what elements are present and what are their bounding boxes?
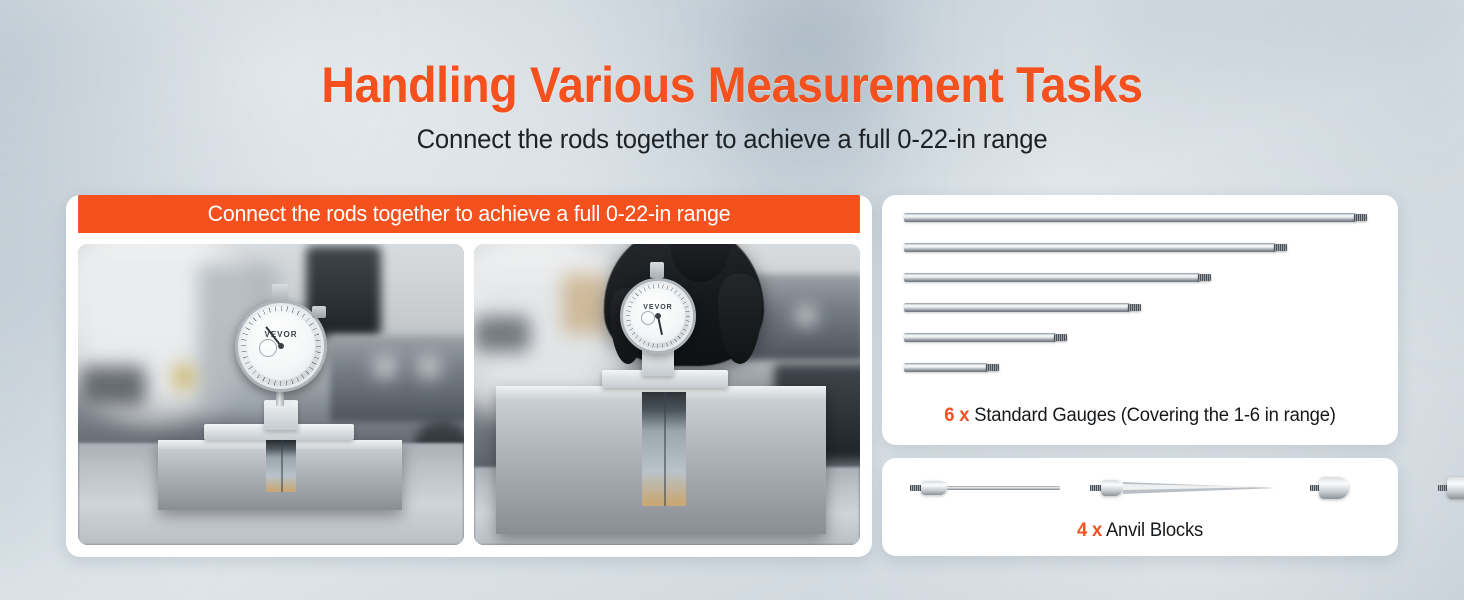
anvil-blocks-card: 4 x Anvil Blocks xyxy=(882,458,1398,556)
page-title: Handling Various Measurement Tasks xyxy=(51,58,1413,112)
anvil-shank xyxy=(947,486,1060,490)
slot-center-line xyxy=(664,392,666,506)
anvil-illustration-area xyxy=(882,458,1398,514)
anvil-head xyxy=(1319,477,1349,499)
photo-card-banner: Connect the rods together to achieve a f… xyxy=(78,195,860,233)
gauge-stem xyxy=(276,390,284,406)
anvil-blocks-caption: 4 x Anvil Blocks xyxy=(890,520,1391,542)
heading-block: Handling Various Measurement Tasks Conne… xyxy=(0,58,1464,155)
product-feature-banner: Handling Various Measurement Tasks Conne… xyxy=(0,0,1464,600)
rod-threaded-tip xyxy=(1128,304,1141,311)
dial-brand-label: VEVOR xyxy=(631,304,685,311)
photo-card: Connect the rods together to achieve a f… xyxy=(66,195,872,557)
photo-gloved-hand-measuring-block: VEVOR xyxy=(474,244,860,545)
rod-body xyxy=(904,333,1056,342)
dial-brand-label: VEVOR xyxy=(247,330,315,339)
vise-bolt xyxy=(374,356,396,378)
standard-gauges-label: Standard Gauges (Covering the 1-6 in ran… xyxy=(974,405,1336,426)
anvil-taper-highlight xyxy=(1123,484,1273,490)
dial-top-cap xyxy=(650,262,664,278)
vise-bolt xyxy=(796,306,816,326)
standard-gauges-caption: 6 x Standard Gauges (Covering the 1-6 in… xyxy=(890,405,1391,427)
backdrop-blob xyxy=(474,316,530,352)
rod-body xyxy=(904,243,1276,252)
rod-body xyxy=(904,213,1356,222)
dial-hub xyxy=(278,343,284,349)
rod-threaded-tip xyxy=(1198,274,1211,281)
anvil-blocks-label: Anvil Blocks xyxy=(1106,520,1203,541)
standard-gauges-card: 6 x Standard Gauges (Covering the 1-6 in… xyxy=(882,195,1398,445)
gauge-rod xyxy=(904,273,1200,282)
anvil-head xyxy=(1447,477,1464,499)
dial-bezel-knob xyxy=(312,306,326,318)
anvil-head xyxy=(921,481,947,495)
anvil-thread xyxy=(1438,485,1447,491)
gauge-rod xyxy=(904,333,1056,342)
steel-block-slot xyxy=(266,440,296,492)
backdrop-blob xyxy=(80,366,146,406)
dial-indicator: VEVOR xyxy=(620,278,696,354)
vise-blob xyxy=(330,336,464,422)
gauge-rod xyxy=(904,363,988,372)
slot-center-line xyxy=(281,440,283,492)
rod-threaded-tip xyxy=(1054,334,1067,341)
dial-subdial xyxy=(259,339,277,357)
dial-face: VEVOR xyxy=(247,312,315,380)
rod-body xyxy=(904,303,1130,312)
photo-dial-indicator-on-steel-block: VEVOR xyxy=(78,244,464,545)
anvil-blocks-quantity: 4 x xyxy=(1077,520,1102,541)
dial-face: VEVOR xyxy=(631,289,685,343)
dial-top-cap xyxy=(272,284,288,302)
anvil-thread xyxy=(910,485,921,491)
steel-block-slot xyxy=(642,392,686,506)
anvil-head xyxy=(1101,480,1123,496)
rod-threaded-tip xyxy=(986,364,999,371)
photo-row: VEVOR xyxy=(66,233,872,557)
vise-bolt xyxy=(418,356,440,378)
page-subtitle: Connect the rods together to achieve a f… xyxy=(37,124,1428,155)
gauge-rod xyxy=(904,243,1276,252)
backdrop-blob xyxy=(562,274,606,334)
gauge-rod xyxy=(904,213,1356,222)
rod-body xyxy=(904,363,988,372)
anvil-thread xyxy=(1090,485,1101,491)
standard-gauges-quantity: 6 x xyxy=(944,405,969,426)
backdrop-blob xyxy=(174,364,194,390)
gauge-rod xyxy=(904,303,1130,312)
rod-threaded-tip xyxy=(1354,214,1367,221)
rod-body xyxy=(904,273,1200,282)
rod-illustration-area xyxy=(882,195,1398,387)
anvil-thread xyxy=(1310,485,1319,491)
rod-threaded-tip xyxy=(1274,244,1287,251)
dial-hub xyxy=(655,313,661,319)
dial-subdial xyxy=(641,311,655,325)
